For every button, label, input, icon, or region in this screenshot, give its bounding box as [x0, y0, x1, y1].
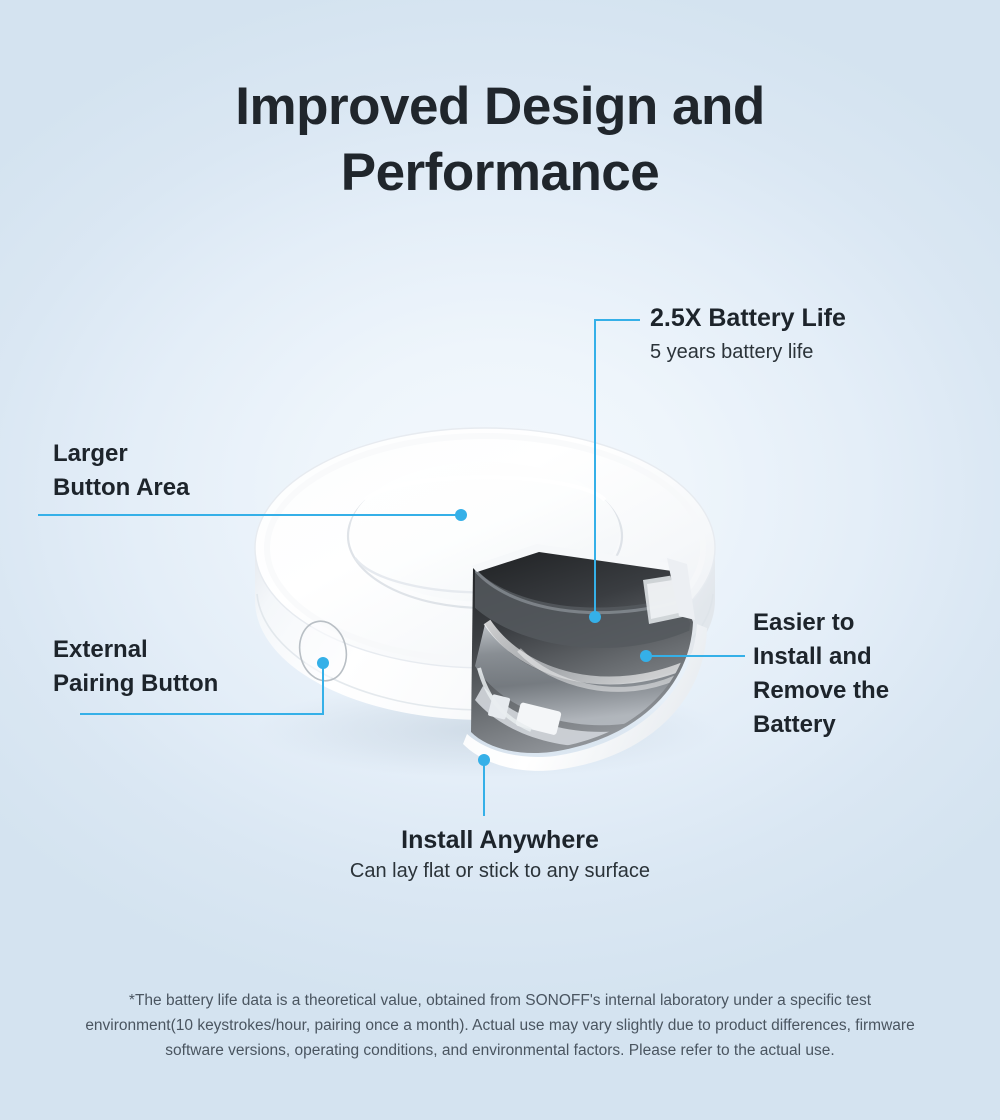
infographic-page: Improved Design and Performance [0, 0, 1000, 1120]
callout-title-larger-button-area: Larger Button Area [53, 437, 189, 505]
page-title-line-2: Performance [0, 140, 1000, 206]
callout-title-install-anywhere: Install Anywhere [0, 824, 1000, 856]
callout-subtitle-install-anywhere: Can lay flat or stick to any surface [0, 858, 1000, 884]
callout-title-battery-life: 2.5X Battery Life [650, 302, 846, 334]
page-title: Improved Design and Performance [0, 74, 1000, 206]
footnote-disclaimer: *The battery life data is a theoretical … [80, 988, 920, 1063]
callout-subtitle-battery-life: 5 years battery life [650, 339, 813, 365]
page-title-line-1: Improved Design and [0, 74, 1000, 140]
product-image [235, 418, 735, 788]
callout-title-external-pairing-button: External Pairing Button [53, 633, 218, 701]
callout-title-remove-battery: Easier to Install and Remove the Battery [753, 606, 889, 742]
